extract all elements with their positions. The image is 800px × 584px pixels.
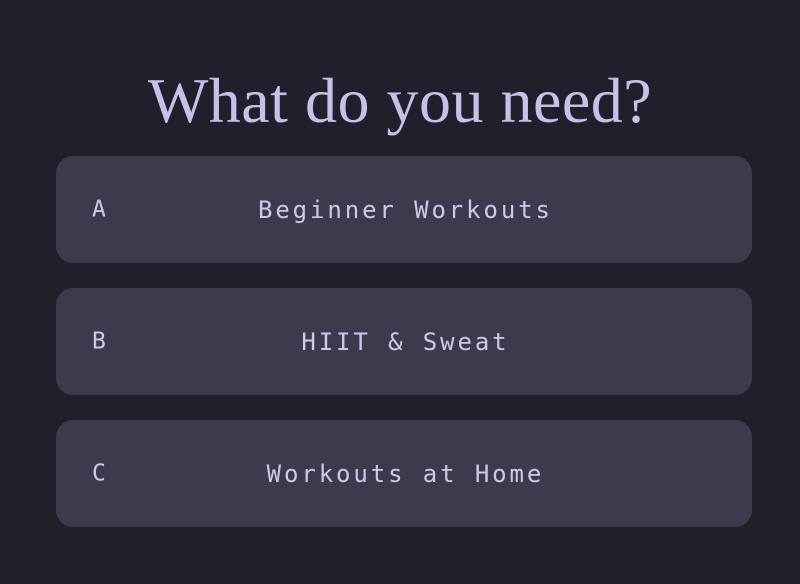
page-title: What do you need? <box>0 67 800 134</box>
option-label-b: HIIT & Sweat <box>56 330 752 354</box>
option-label-a: Beginner Workouts <box>56 198 752 222</box>
option-card-a[interactable]: A Beginner Workouts <box>56 156 752 263</box>
option-key-b: B <box>92 330 107 353</box>
option-list: A Beginner Workouts B HIIT & Sweat C Wor… <box>56 156 752 527</box>
quiz-screen: What do you need? A Beginner Workouts B … <box>0 0 800 584</box>
option-label-c: Workouts at Home <box>56 462 752 486</box>
option-key-c: C <box>92 462 107 485</box>
option-key-a: A <box>92 198 107 221</box>
option-card-c[interactable]: C Workouts at Home <box>56 420 752 527</box>
option-card-b[interactable]: B HIIT & Sweat <box>56 288 752 395</box>
